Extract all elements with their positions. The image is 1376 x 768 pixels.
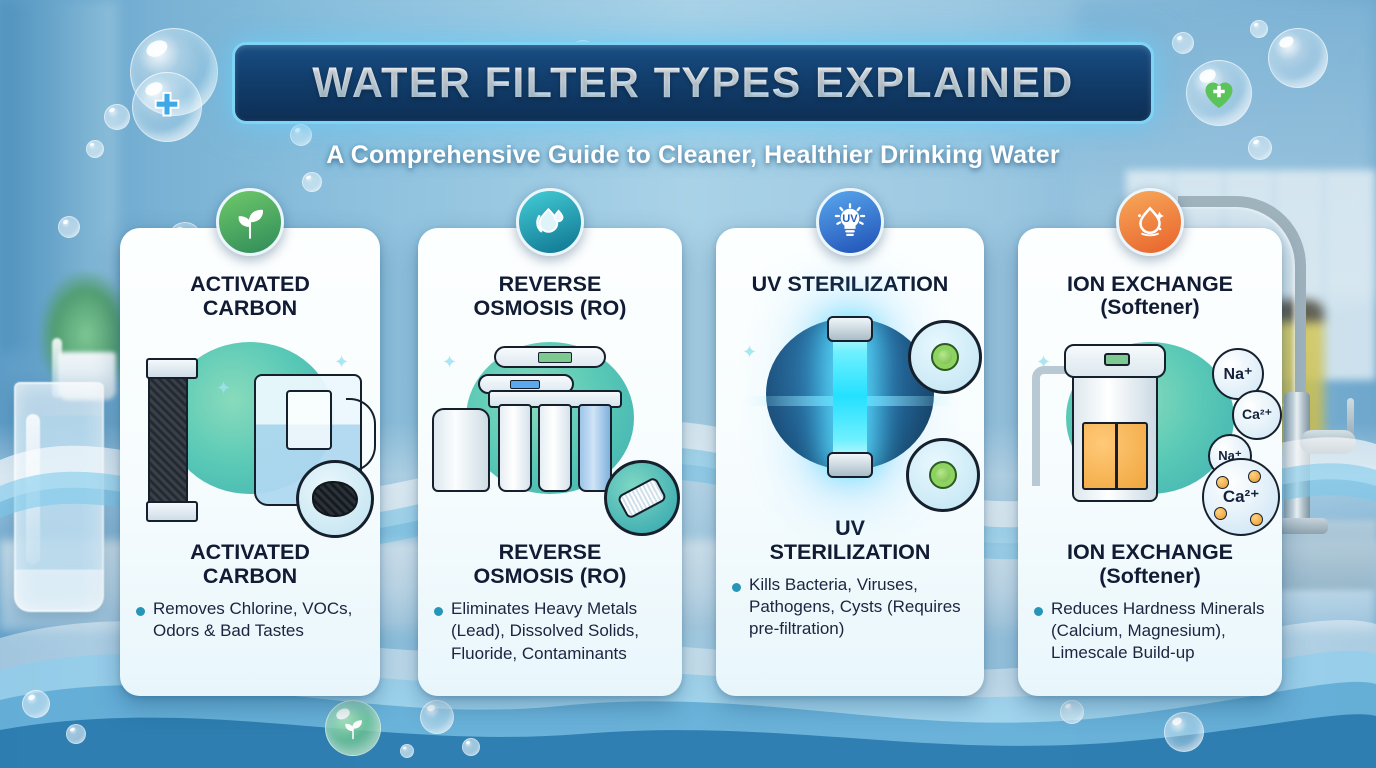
- list-item: Removes Chlorine, VOCs, Odors & Bad Tast…: [136, 598, 366, 642]
- bullet-text: Eliminates Heavy Metals (Lead), Dissolve…: [451, 598, 668, 664]
- card-title-top-line1: ION EXCHANGE: [1026, 272, 1274, 296]
- bullet-text: Removes Chlorine, VOCs, Odors & Bad Tast…: [153, 598, 366, 642]
- bubble: [66, 724, 86, 744]
- uv-lamp-cap-bottom: [827, 452, 873, 478]
- card-title-top: ION EXCHANGE (Softener): [1018, 272, 1282, 320]
- bubble: [1268, 28, 1328, 88]
- heart-plus-icon: [1201, 76, 1237, 110]
- card-title-bottom-line2: (Softener): [1024, 564, 1276, 588]
- bubble: [1248, 136, 1272, 160]
- bubble-with-plus-icon: [132, 72, 202, 142]
- ion-label-calcium: Ca²⁺: [1232, 390, 1282, 440]
- bullet-dot-icon: [136, 607, 145, 616]
- title-bar: WATER FILTER TYPES EXPLAINED: [232, 42, 1154, 124]
- card-title-bottom: REVERSE OSMOSIS (RO): [418, 540, 682, 588]
- germ-magnifier-bottom: [906, 438, 980, 512]
- softener-display: [1104, 353, 1130, 366]
- badge-uv-sterilization: UV: [816, 188, 884, 256]
- card-title-top-line1: UV STERILIZATION: [724, 272, 976, 296]
- card-uv-sterilization[interactable]: UV STERILIZATION ✦ UV STERILIZATION Kill…: [716, 228, 984, 696]
- resin-pellet: [1250, 513, 1263, 526]
- card-title-top-line1: REVERSE: [426, 272, 674, 296]
- card-title-bottom-line2: OSMOSIS (RO): [424, 564, 676, 588]
- resin-pellet: [1216, 476, 1229, 489]
- card-illustration: ✦: [418, 326, 682, 538]
- card-title-top-line2: OSMOSIS (RO): [426, 296, 674, 320]
- uv-lightbulb-icon: UV: [829, 201, 871, 243]
- card-title-bottom-line1: REVERSE: [424, 540, 676, 564]
- carbon-cartridge-icon: [148, 366, 188, 514]
- ro-filter-stage-1: [498, 404, 532, 492]
- bubble: [86, 140, 104, 158]
- header: WATER FILTER TYPES EXPLAINED A Comprehen…: [232, 42, 1154, 170]
- uv-lamp-tube-icon: [833, 328, 867, 464]
- list-item: Eliminates Heavy Metals (Lead), Dissolve…: [434, 598, 668, 664]
- resin-pellet: [1248, 470, 1261, 483]
- ro-membrane-top: [494, 346, 606, 368]
- membrane-chip: [538, 352, 572, 363]
- infographic-canvas: WATER FILTER TYPES EXPLAINED A Comprehen…: [0, 0, 1376, 768]
- bubble: [302, 172, 322, 192]
- list-item: Kills Bacteria, Viruses, Pathogens, Cyst…: [732, 574, 970, 640]
- medical-plus-icon: [150, 90, 184, 124]
- svg-text:UV: UV: [842, 213, 858, 225]
- uv-lamp-cap-top: [827, 316, 873, 342]
- card-bullet-list: Reduces Hardness Minerals (Calcium, Magn…: [1034, 598, 1268, 664]
- card-reverse-osmosis[interactable]: REVERSE OSMOSIS (RO) ✦ REVERSE OSMOSIS (…: [418, 228, 682, 696]
- card-title-top: UV STERILIZATION: [716, 272, 984, 296]
- card-illustration: ✦ ✦: [120, 326, 380, 538]
- resin-pellet: [1214, 507, 1227, 520]
- leaf-icon: [339, 714, 367, 742]
- card-title-bottom-line1: ION EXCHANGE: [1024, 540, 1276, 564]
- card-title-top-line2: CARBON: [128, 296, 372, 320]
- page-subtitle: A Comprehensive Guide to Cleaner, Health…: [232, 141, 1154, 170]
- bubble: [1060, 700, 1084, 724]
- ro-filter-stage-3: [578, 404, 612, 492]
- softener-inlet-pipe: [1032, 366, 1074, 486]
- bubble-with-leaf-icon: [325, 700, 381, 756]
- bullet-text: Reduces Hardness Minerals (Calcium, Magn…: [1051, 598, 1268, 664]
- bubble: [22, 690, 50, 718]
- bacteria-icon: [931, 343, 959, 371]
- card-illustration: ✦ Na⁺ Ca²⁺ Na⁺ Ca²⁺: [1018, 326, 1282, 538]
- card-title-top-line1: ACTIVATED: [128, 272, 372, 296]
- card-title-bottom-line1: ACTIVATED: [126, 540, 374, 564]
- sparkle-icon: ✦: [442, 352, 457, 373]
- card-activated-carbon[interactable]: ACTIVATED CARBON ✦ ✦ ACTIVATED CARBON Re…: [120, 228, 380, 696]
- bubble: [1250, 20, 1268, 38]
- card-ion-exchange[interactable]: ION EXCHANGE (Softener) ✦ Na⁺ Ca²⁺ Na⁺ C…: [1018, 228, 1282, 696]
- bubble: [420, 700, 454, 734]
- ro-membrane-magnifier: [604, 460, 680, 536]
- badge-reverse-osmosis: [516, 188, 584, 256]
- card-title-bottom: ION EXCHANGE (Softener): [1018, 540, 1282, 588]
- badge-ion-exchange: [1116, 188, 1184, 256]
- card-title-top-line2: (Softener): [1026, 296, 1274, 320]
- page-title: WATER FILTER TYPES EXPLAINED: [312, 59, 1074, 108]
- ro-storage-tank-icon: [432, 408, 490, 492]
- badge-activated-carbon: [216, 188, 284, 256]
- membrane-chip: [510, 380, 540, 389]
- bullet-dot-icon: [732, 583, 741, 592]
- carbon-granule-magnifier: [296, 460, 374, 538]
- faucet-column: [1284, 392, 1310, 528]
- card-title-bottom: UV STERILIZATION: [716, 516, 984, 564]
- bubble: [462, 738, 480, 756]
- germ-magnifier-top: [908, 320, 982, 394]
- card-bullet-list: Kills Bacteria, Viruses, Pathogens, Cyst…: [732, 574, 970, 640]
- bubble: [1164, 712, 1204, 752]
- card-title-bottom-line2: CARBON: [126, 564, 374, 588]
- bubble-with-heart-icon: [1186, 60, 1252, 126]
- bullet-dot-icon: [1034, 607, 1043, 616]
- pitcher-handle: [346, 398, 376, 472]
- leaf-icon: [231, 203, 269, 241]
- card-title-bottom-line1: UV: [722, 516, 978, 540]
- card-title-bottom: ACTIVATED CARBON: [120, 540, 380, 588]
- sparkle-icon: ✦: [334, 352, 349, 373]
- pitcher-filter-core: [286, 390, 332, 450]
- water-drop-icon: [531, 203, 569, 241]
- card-title-top: ACTIVATED CARBON: [120, 272, 380, 320]
- membrane-roll-icon: [616, 476, 667, 520]
- ion-magnifier-calcium: Ca²⁺: [1202, 458, 1280, 536]
- list-item: Reduces Hardness Minerals (Calcium, Magn…: [1034, 598, 1268, 664]
- bubble: [400, 744, 414, 758]
- resin-bed-icon: [1082, 422, 1148, 490]
- bullet-dot-icon: [434, 607, 443, 616]
- card-illustration: ✦: [716, 302, 984, 514]
- carbon-granules-icon: [312, 481, 358, 517]
- orange-water-drop-icon: [1131, 203, 1169, 241]
- faucet-handle: [1300, 430, 1356, 454]
- bubble: [1172, 32, 1194, 54]
- ro-filter-stage-2: [538, 404, 572, 492]
- bubble: [104, 104, 130, 130]
- card-bullet-list: Eliminates Heavy Metals (Lead), Dissolve…: [434, 598, 668, 664]
- bullet-text: Kills Bacteria, Viruses, Pathogens, Cyst…: [749, 574, 970, 640]
- card-bullet-list: Removes Chlorine, VOCs, Odors & Bad Tast…: [136, 598, 366, 642]
- sparkle-icon: ✦: [742, 342, 757, 363]
- virus-icon: [929, 461, 957, 489]
- bubble: [58, 216, 80, 238]
- ion-label-text: Ca²⁺: [1223, 487, 1259, 507]
- card-title-bottom-line2: STERILIZATION: [722, 540, 978, 564]
- card-title-top: REVERSE OSMOSIS (RO): [418, 272, 682, 320]
- sparkle-icon: ✦: [216, 378, 231, 399]
